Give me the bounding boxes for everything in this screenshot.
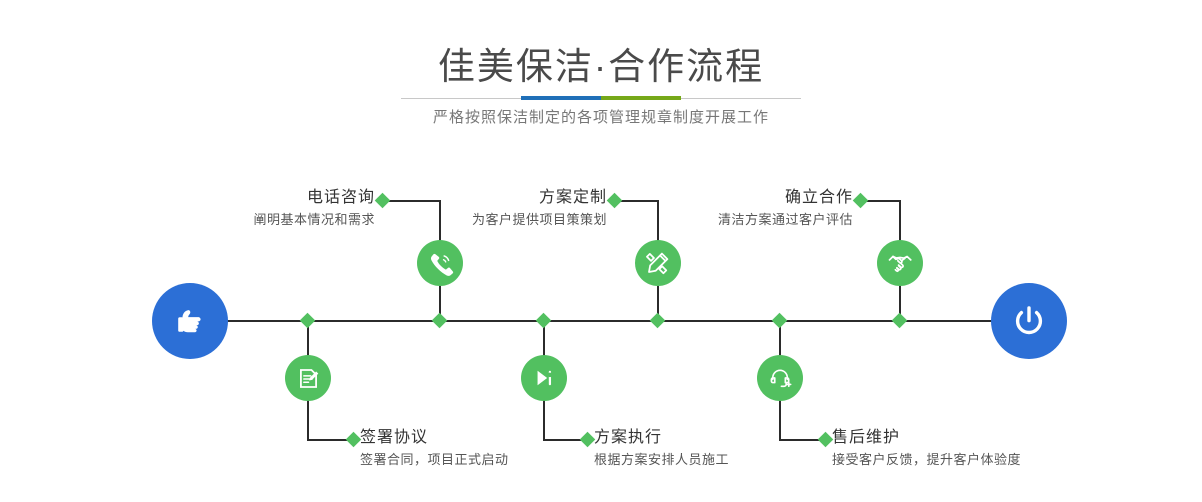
step-icon-plan[interactable] [635, 240, 681, 286]
divider-green-segment [601, 96, 681, 100]
step-marker-5 [853, 193, 869, 209]
step-connector-stem-5 [899, 200, 901, 242]
power-button-icon [1008, 300, 1050, 342]
step-title: 方案定制 [330, 188, 607, 208]
timeline-start-node[interactable] [152, 283, 228, 359]
step-icon-phone[interactable] [417, 240, 463, 286]
handshake-icon [887, 250, 914, 277]
title-divider [401, 96, 801, 100]
step-label-3: 方案定制 为客户提供项目策策划 [330, 188, 607, 230]
timeline-end-node[interactable] [991, 283, 1067, 359]
headset-support-icon [768, 366, 793, 391]
axis-marker-4 [536, 313, 552, 329]
step-desc: 清洁方案通过客户评估 [575, 210, 853, 230]
thumb-pointing-hand-icon [170, 301, 210, 341]
step-icon-support[interactable] [757, 355, 803, 401]
play-execute-icon [532, 366, 556, 390]
axis-marker-1 [432, 313, 448, 329]
step-connector-stem-2 [307, 399, 309, 441]
step-title: 售后维护 [832, 428, 1162, 448]
step-desc: 接受客户反馈，提升客户体验度 [832, 450, 1162, 470]
divider-blue-segment [521, 96, 601, 100]
step-marker-2 [346, 432, 362, 448]
step-label-6: 售后维护 接受客户反馈，提升客户体验度 [832, 428, 1162, 470]
axis-marker-5 [892, 313, 908, 329]
page-subtitle: 严格按照保洁制定的各项管理规章制度开展工作 [0, 106, 1202, 127]
axis-marker-3 [650, 313, 666, 329]
pencil-ruler-icon [645, 250, 671, 276]
step-icon-execute[interactable] [521, 355, 567, 401]
flow-diagram-page: 佳美保洁·合作流程 严格按照保洁制定的各项管理规章制度开展工作 [0, 0, 1202, 502]
page-title: 佳美保洁·合作流程 [0, 36, 1202, 90]
step-desc: 为客户提供项目策策划 [330, 210, 607, 230]
document-sign-icon [296, 366, 321, 391]
step-icon-sign[interactable] [285, 355, 331, 401]
phone-call-icon [427, 250, 454, 277]
step-icon-handshake[interactable] [877, 240, 923, 286]
axis-marker-6 [772, 313, 788, 329]
axis-marker-2 [300, 313, 316, 329]
